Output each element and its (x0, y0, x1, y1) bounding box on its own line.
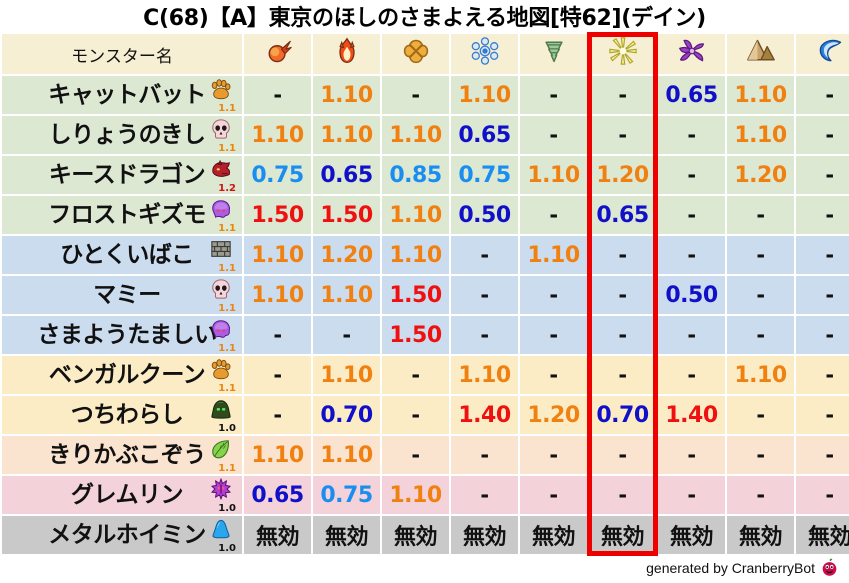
resistance-cell: - (796, 156, 849, 194)
resistance-cell: 0.65 (451, 116, 518, 154)
resistance-cell: - (520, 356, 587, 394)
monster-name-cell[interactable]: ベンガルクーン1.1 (2, 356, 242, 394)
chest-icon (206, 238, 236, 264)
resistance-cell: 無効 (451, 516, 518, 554)
monster-name-label: キースドラゴン (39, 156, 205, 194)
resistance-cell: - (796, 236, 849, 274)
table-row: さまようたましい1.1--1.50------ (2, 316, 849, 354)
monster-name-label: ひとくいばこ (50, 236, 194, 274)
resistance-cell: - (451, 236, 518, 274)
ghost-icon (206, 318, 236, 344)
resistance-cell: 無効 (658, 516, 725, 554)
resistance-cell: 無効 (382, 516, 449, 554)
slime-blue-icon (206, 518, 236, 544)
monster-version-label: 1.1 (206, 344, 237, 353)
resistance-cell: 無効 (313, 516, 380, 554)
resistance-cell: - (589, 356, 656, 394)
table-row: メタルホイミン1.0無効無効無効無効無効無効無効無効無効 (2, 516, 849, 554)
monster-version-label: 1.1 (206, 384, 237, 393)
monster-name-cell[interactable]: つちわらし1.0 (2, 396, 242, 434)
resistance-cell: 1.50 (382, 276, 449, 314)
resistance-cell: 無効 (727, 516, 794, 554)
monster-version-label: 1.1 (206, 224, 237, 233)
resistance-cell: 1.10 (313, 436, 380, 474)
resistance-cell: - (796, 356, 849, 394)
column-header-gira[interactable] (313, 34, 380, 74)
demon-icon (206, 478, 236, 504)
monster-family-icon-wrap: 1.1 (206, 238, 236, 272)
table-row: フロストギズモ1.11.501.501.100.50-0.65--- (2, 196, 849, 234)
resistance-matrix: モンスター名 キャットバット1.1-1.10-1.10--0.651.10-しり… (0, 32, 849, 556)
monster-name-cell[interactable]: メタルホイミン1.0 (2, 516, 242, 554)
resistance-cell: 無効 (589, 516, 656, 554)
resistance-cell: - (796, 476, 849, 514)
resistance-cell: - (451, 276, 518, 314)
monster-name-label: さまようたましい (27, 316, 216, 354)
resistance-cell: - (589, 316, 656, 354)
resistance-cell: 1.10 (382, 116, 449, 154)
monster-version-label: 1.1 (206, 304, 237, 313)
resistance-cell: 1.50 (382, 316, 449, 354)
monster-name-label: ベンガルクーン (39, 356, 205, 394)
column-header-mera[interactable] (244, 34, 311, 74)
paw-icon (206, 358, 236, 384)
resistance-cell: 0.75 (244, 156, 311, 194)
resistance-cell: 1.10 (244, 236, 311, 274)
resistance-cell: - (382, 396, 449, 434)
resistance-cell: 1.10 (727, 116, 794, 154)
resistance-cell: - (520, 436, 587, 474)
resistance-cell: - (244, 356, 311, 394)
resistance-cell: - (589, 476, 656, 514)
table-row: つちわらし1.0-0.70-1.401.200.701.40-- (2, 396, 849, 434)
resistance-cell: - (727, 196, 794, 234)
resistance-cell: 無効 (520, 516, 587, 554)
column-header-dein[interactable] (589, 34, 656, 74)
flame-icon (313, 37, 380, 71)
resistance-cell: - (727, 396, 794, 434)
monster-name-cell[interactable]: マミー1.1 (2, 276, 242, 314)
resistance-cell: - (244, 396, 311, 434)
monster-family-icon-wrap: 1.0 (206, 478, 236, 512)
resistance-cell: 0.70 (589, 396, 656, 434)
resistance-cell: 1.50 (313, 196, 380, 234)
page-title: C(68)【A】東京のほしのさまよえる地図[特62](デイン) (0, 0, 849, 32)
resistance-cell: 無効 (244, 516, 311, 554)
resistance-cell: - (382, 356, 449, 394)
resistance-cell: - (796, 276, 849, 314)
resistance-cell: - (796, 196, 849, 234)
resistance-cell: 1.10 (727, 76, 794, 114)
column-header-hyado[interactable] (451, 34, 518, 74)
resistance-cell: - (244, 316, 311, 354)
tornado-icon (520, 37, 587, 71)
resistance-cell: 1.10 (382, 236, 449, 274)
monster-family-icon-wrap: 1.1 (206, 278, 236, 312)
resistance-cell: 1.10 (727, 356, 794, 394)
resistance-cell: 1.20 (520, 396, 587, 434)
paw-icon (206, 78, 236, 104)
resistance-cell: 1.10 (382, 476, 449, 514)
monster-version-label: 1.1 (206, 144, 237, 153)
footer-text: generated by CranberryBot (646, 560, 815, 576)
resistance-cell: - (727, 436, 794, 474)
monster-name-label: フロストギズモ (38, 196, 206, 234)
monster-version-label: 1.1 (206, 264, 237, 273)
resistance-cell: - (796, 396, 849, 434)
resistance-cell: 0.85 (382, 156, 449, 194)
resistance-cell: - (451, 476, 518, 514)
table-row: キャットバット1.1-1.10-1.10--0.651.10- (2, 76, 849, 114)
fireball-icon (244, 37, 311, 71)
resistance-cell: 0.65 (313, 156, 380, 194)
resistance-cell: - (658, 356, 725, 394)
table-row: マミー1.11.101.101.50---0.50-- (2, 276, 849, 314)
resistance-cell: - (658, 156, 725, 194)
monster-family-icon-wrap: 1.0 (206, 398, 236, 432)
monster-name-cell[interactable]: ひとくいばこ1.1 (2, 236, 242, 274)
monster-family-icon-wrap: 1.1 (206, 438, 236, 472)
monster-version-label: 1.0 (206, 504, 237, 513)
wave-icon (796, 37, 849, 71)
resistance-cell: 1.10 (313, 76, 380, 114)
column-header-merazoma[interactable] (796, 34, 849, 74)
resistance-cell: - (658, 236, 725, 274)
monster-name-label: しりょうのきし (39, 116, 206, 154)
resistance-cell: - (520, 196, 587, 234)
resistance-cell: - (382, 76, 449, 114)
monster-version-label: 1.1 (206, 464, 237, 473)
resistance-cell: - (727, 236, 794, 274)
resistance-cell: 0.65 (244, 476, 311, 514)
resistance-cell: - (244, 76, 311, 114)
resistance-cell: 1.10 (313, 116, 380, 154)
resistance-cell: 1.50 (244, 196, 311, 234)
resistance-cell: 1.10 (313, 276, 380, 314)
resistance-cell: 1.20 (727, 156, 794, 194)
resistance-cell: - (796, 436, 849, 474)
column-header-dorma[interactable] (658, 34, 725, 74)
resistance-cell: 0.70 (313, 396, 380, 434)
resistance-cell: 1.40 (451, 396, 518, 434)
explosion-icon (382, 37, 449, 71)
resistance-cell: 0.75 (451, 156, 518, 194)
resistance-cell: - (727, 276, 794, 314)
resistance-cell: - (520, 476, 587, 514)
table-row: しりょうのきし1.11.101.101.100.65---1.10- (2, 116, 849, 154)
resistance-cell: 無効 (796, 516, 849, 554)
monster-family-icon-wrap: 1.1 (206, 358, 236, 392)
resistance-cell: - (658, 476, 725, 514)
resistance-cell: - (658, 316, 725, 354)
resistance-cell: - (520, 276, 587, 314)
monster-version-label: 1.1 (206, 104, 237, 113)
resistance-cell: 0.65 (658, 76, 725, 114)
column-header-jiba[interactable] (727, 34, 794, 74)
resistance-cell: 1.10 (520, 236, 587, 274)
monster-name-cell[interactable]: さまようたましい1.1 (2, 316, 242, 354)
monster-name-label: キャットバット (38, 76, 206, 114)
table-row: グレムリン1.00.650.751.10------ (2, 476, 849, 514)
resistance-cell: 0.50 (451, 196, 518, 234)
resistance-cell: 1.10 (382, 196, 449, 234)
table-row: キースドラゴン1.20.750.650.850.751.101.20-1.20- (2, 156, 849, 194)
resistance-cell: - (520, 116, 587, 154)
resistance-cell: - (589, 276, 656, 314)
monster-name-label: マミー (83, 276, 161, 314)
table-header-row: モンスター名 (2, 34, 849, 74)
resistance-cell: 1.20 (589, 156, 656, 194)
monster-name-label: つちわらし (61, 396, 184, 434)
leaf-icon (206, 438, 236, 464)
resistance-cell: 1.10 (520, 156, 587, 194)
resistance-cell: 1.40 (658, 396, 725, 434)
resistance-cell: - (796, 116, 849, 154)
resistance-cell: 1.10 (451, 76, 518, 114)
resistance-cell: - (520, 316, 587, 354)
monster-name-cell[interactable]: しりょうのきし1.1 (2, 116, 242, 154)
resistance-table-page: C(68)【A】東京のほしのさまよえる地図[特62](デイン) モンスター名 キ… (0, 0, 849, 583)
resistance-cell: 0.65 (589, 196, 656, 234)
monster-family-icon-wrap: 1.2 (206, 158, 236, 192)
monster-family-icon-wrap: 1.1 (206, 118, 236, 152)
monster-version-label: 1.0 (206, 544, 237, 553)
monster-name-cell[interactable]: キャットバット1.1 (2, 76, 242, 114)
monster-version-label: 1.0 (206, 424, 237, 433)
resistance-cell: - (658, 436, 725, 474)
ghost-icon (206, 198, 236, 224)
monster-name-cell[interactable]: きりかぶこぞう1.1 (2, 436, 242, 474)
resistance-cell: - (796, 76, 849, 114)
cranberry-icon (820, 558, 839, 577)
snowflake-icon (451, 37, 518, 71)
resistance-cell: - (727, 316, 794, 354)
resistance-cell: - (589, 236, 656, 274)
dragon-icon (206, 158, 236, 184)
monster-family-icon-wrap: 1.1 (206, 78, 236, 112)
resistance-cell: - (520, 76, 587, 114)
skull-icon (206, 278, 236, 304)
monster-family-icon-wrap: 1.0 (206, 518, 236, 552)
mountain-icon (727, 37, 794, 71)
skull-icon (206, 118, 236, 144)
table-row: きりかぶこぞう1.11.101.10------- (2, 436, 849, 474)
resistance-cell: 0.75 (313, 476, 380, 514)
resistance-cell: 1.10 (244, 116, 311, 154)
resistance-cell: - (589, 436, 656, 474)
slime-dark-icon (206, 398, 236, 424)
column-header-monster-name: モンスター名 (2, 34, 242, 74)
resistance-cell: - (589, 76, 656, 114)
monster-family-icon-wrap: 1.1 (206, 318, 236, 352)
resistance-cell: - (796, 316, 849, 354)
resistance-cell: 1.10 (244, 276, 311, 314)
resistance-cell: 0.50 (658, 276, 725, 314)
dark-flower-icon (658, 37, 725, 71)
monster-name-cell[interactable]: グレムリン1.0 (2, 476, 242, 514)
resistance-cell: - (658, 116, 725, 154)
monster-name-cell[interactable]: フロストギズモ1.1 (2, 196, 242, 234)
footer-credit: generated by CranberryBot (646, 558, 839, 577)
resistance-cell: - (382, 436, 449, 474)
table-row: ひとくいばこ1.11.101.201.10-1.10---- (2, 236, 849, 274)
column-header-bagi[interactable] (520, 34, 587, 74)
monster-version-label: 1.2 (206, 184, 237, 193)
lightning-star-icon (589, 37, 656, 71)
resistance-cell: 1.10 (244, 436, 311, 474)
resistance-cell: - (589, 116, 656, 154)
resistance-cell: - (313, 316, 380, 354)
resistance-cell: - (727, 476, 794, 514)
monster-name-cell[interactable]: キースドラゴン1.2 (2, 156, 242, 194)
resistance-cell: - (451, 436, 518, 474)
resistance-cell: 1.20 (313, 236, 380, 274)
table-row: ベンガルクーン1.1-1.10-1.10---1.10- (2, 356, 849, 394)
monster-name-label: きりかぶこぞう (38, 436, 206, 474)
resistance-cell: 1.10 (313, 356, 380, 394)
monster-family-icon-wrap: 1.1 (206, 198, 236, 232)
resistance-cell: 1.10 (451, 356, 518, 394)
monster-name-label: メタルホイミン (38, 516, 206, 554)
monster-name-label: グレムリン (61, 476, 183, 514)
resistance-cell: - (451, 316, 518, 354)
column-header-io[interactable] (382, 34, 449, 74)
resistance-cell: - (658, 196, 725, 234)
